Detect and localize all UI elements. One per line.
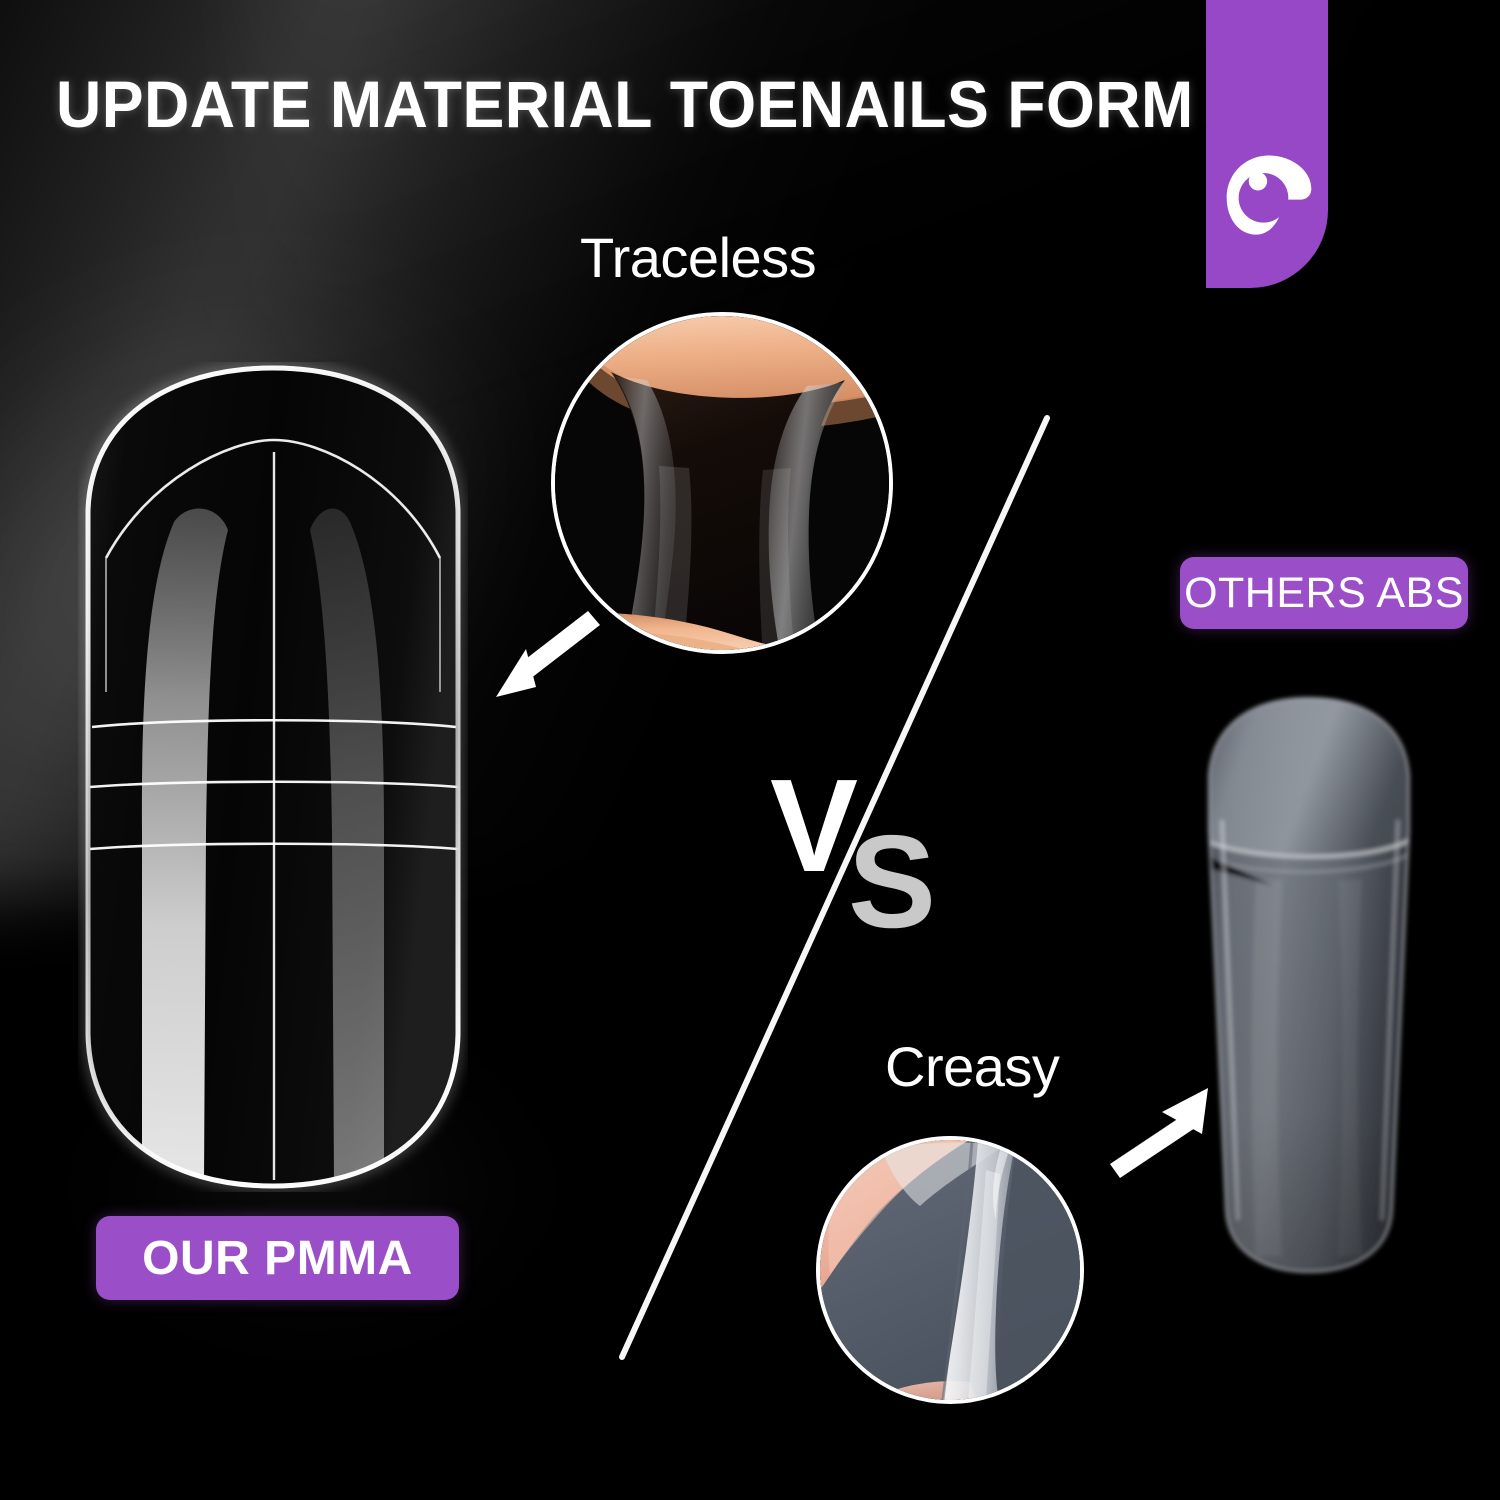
versus-letter-v: V [770,760,856,892]
badge-our-pmma: OUR PMMA [96,1216,459,1300]
abs-nail-form-icon [1178,690,1440,1280]
pmma-nail-form-icon [78,362,468,1192]
page-title: UPDATE MATERIAL TOENAILS FORM [56,70,1194,139]
chameleon-eye-logo-icon [1223,150,1315,242]
product-comparison-banner: UPDATE MATERIAL TOENAILS FORM [0,0,1500,1500]
versus-letter-s: S [848,816,934,948]
versus-marker: V S [770,760,990,940]
traceless-closeup-icon [551,312,893,654]
brand-ribbon [1206,0,1328,288]
traceless-label: Traceless [580,225,816,290]
badge-others-abs: OTHERS ABS [1180,557,1468,629]
creasy-closeup-icon [816,1136,1084,1404]
creasy-label: Creasy [885,1034,1059,1099]
